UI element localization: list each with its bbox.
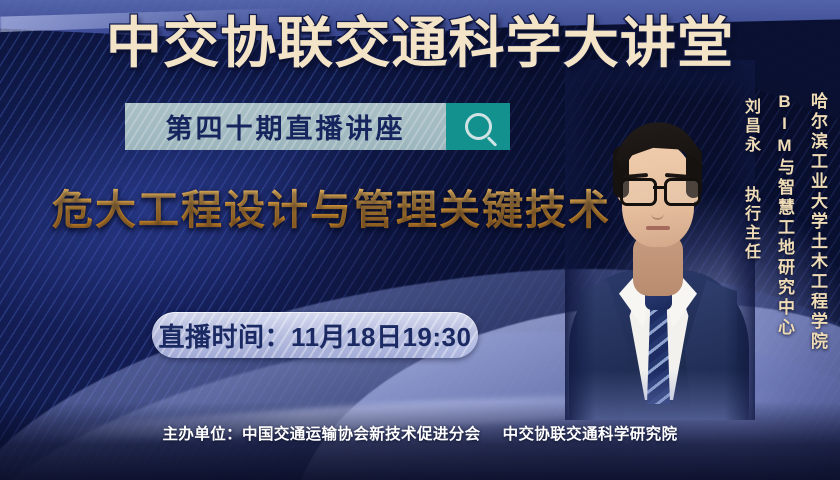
portrait-glasses (618, 178, 698, 202)
portrait-mouth (646, 226, 670, 230)
episode-label-box: 第四十期直播讲座 (125, 103, 446, 150)
glasses-lens-right (664, 178, 701, 206)
broadcast-time-text: 直播时间：11月18日19:30 (159, 317, 472, 354)
portrait-nose (651, 202, 664, 220)
search-icon (465, 113, 492, 140)
speaker-affiliation: 哈尔滨工业大学土木工程学院 (805, 92, 830, 352)
live-lecture-poster: 中交协联交通科学大讲堂 第四十期直播讲座 危大工程设计与管理关键技术 直播时间：… (0, 0, 840, 480)
page-title: 中交协联交通科学大讲堂 (0, 16, 840, 71)
speaker-portrait (575, 84, 740, 414)
speaker-research-center: BIM与智慧工地研究中心 (772, 92, 797, 338)
episode-label: 第四十期直播讲座 (166, 107, 406, 146)
lecture-title: 危大工程设计与管理关键技术 (52, 188, 611, 233)
organizer-name-1: 中国交通运输协会新技术促进分会 (242, 426, 481, 443)
search-button[interactable] (446, 103, 510, 150)
episode-band: 第四十期直播讲座 (125, 103, 510, 150)
organizer-prefix: 主办单位： (163, 426, 243, 443)
speaker-role: 执行主任 (738, 186, 762, 262)
organizer-name-2: 中交协联交通科学研究院 (503, 426, 678, 443)
organizer-footer: 主办单位：中国交通运输协会新技术促进分会中交协联交通科学研究院 (0, 422, 840, 444)
broadcast-time-badge: 直播时间：11月18日19:30 (152, 312, 478, 358)
speaker-name: 刘昌永 (738, 98, 762, 155)
glasses-bridge (653, 186, 665, 189)
